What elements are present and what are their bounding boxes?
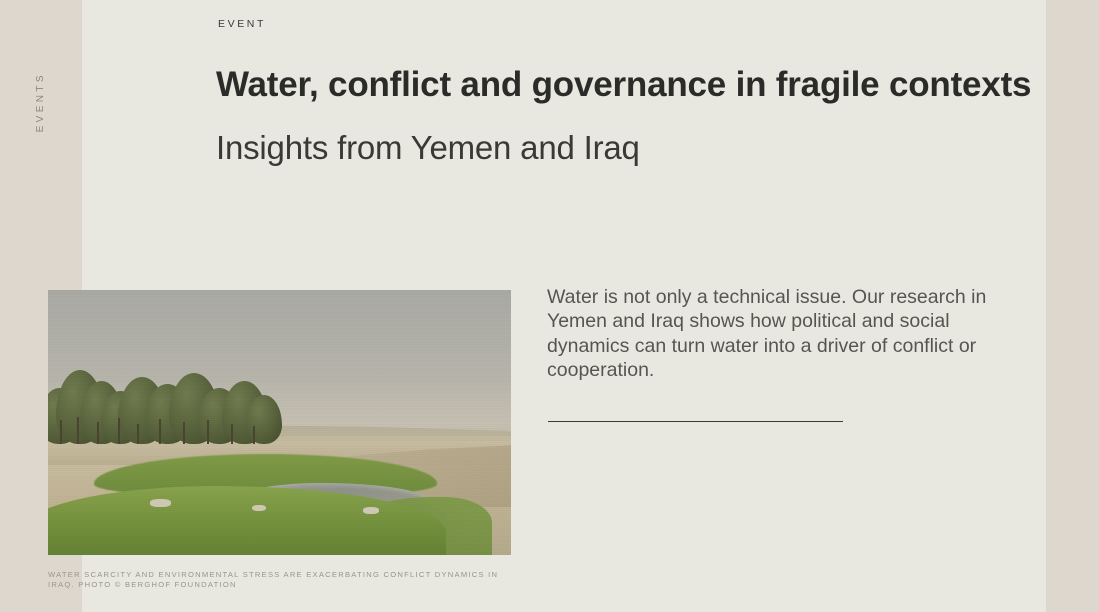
- lead-paragraph: Water is not only a technical issue. Our…: [547, 285, 1017, 383]
- page-subtitle: Insights from Yemen and Iraq: [216, 126, 1036, 170]
- photo-rock: [363, 507, 379, 514]
- photo-treeline: [48, 354, 280, 444]
- section-label-events[interactable]: EVENTS: [0, 62, 82, 142]
- landscape-photo: [48, 290, 511, 555]
- section-label-events-text: EVENTS: [36, 72, 46, 132]
- page-root: EVENTS EVENT Water, conflict and governa…: [0, 0, 1099, 612]
- photo-rock: [150, 499, 171, 507]
- right-rail: [1046, 0, 1099, 612]
- page-title: Water, conflict and governance in fragil…: [216, 62, 1036, 108]
- lead-divider-rule: [548, 421, 843, 422]
- figure-caption: WATER SCARCITY AND ENVIRONMENTAL STRESS …: [48, 570, 503, 590]
- photo-rock: [252, 505, 266, 511]
- eyebrow-label: EVENT: [218, 18, 266, 30]
- article-figure: WATER SCARCITY AND ENVIRONMENTAL STRESS …: [48, 290, 511, 590]
